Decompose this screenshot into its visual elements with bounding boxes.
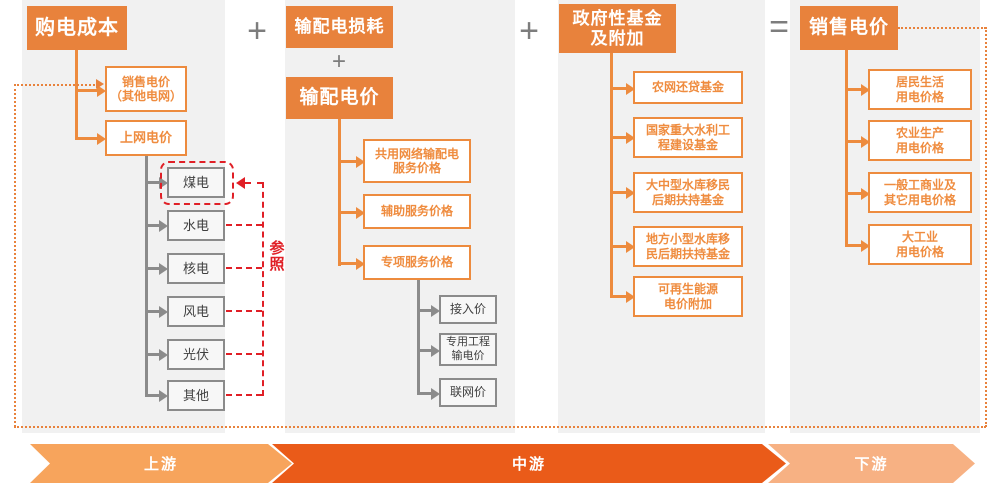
box-local-small-reservoir-resettlement-fund: 地方小型水库移 民后期扶持基金: [633, 226, 743, 267]
header-sales-price: 销售电价: [800, 6, 898, 50]
reference-stub-nuclear: [226, 267, 262, 269]
box-on-grid-price: 上网电价: [105, 120, 187, 156]
connector-transmission-spine: [338, 119, 341, 266]
feedback-loop-bottom: [14, 426, 986, 428]
connector-purchase-stem: [75, 50, 78, 140]
chevron-downstream-label: 下游: [854, 453, 888, 474]
header-transmission-loss: 输配电损耗: [286, 6, 393, 48]
reference-stub-solar: [226, 353, 262, 355]
box-renewable-energy-surcharge: 可再生能源 电价附加: [633, 276, 743, 317]
connector-purchase-branch-1: [75, 89, 99, 92]
reference-stub-coal: [245, 182, 263, 184]
box-ancillary-service-price: 辅助服务价格: [363, 194, 471, 229]
operator-equals: =: [762, 10, 796, 44]
box-hydro-power: 水电: [167, 210, 225, 241]
chevron-downstream: 下游: [768, 444, 975, 483]
box-residential-price: 居民生活 用电价格: [868, 69, 972, 110]
connector-transmission-1: [338, 160, 358, 163]
diagram-canvas: + + = 购电成本 销售电价 （其他电网） 上网电价 煤电 水电 核电 风电 …: [0, 0, 1000, 483]
box-interconnection-price: 联网价: [439, 378, 497, 407]
reference-bus-vertical: [262, 182, 264, 396]
box-general-commercial-price: 一般工商业及 其它用电价格: [868, 172, 972, 213]
feedback-loop-right: [985, 27, 987, 427]
panel-sales-price: [790, 0, 980, 433]
header-government-funds: 政府性基金 及附加: [559, 4, 676, 53]
chevron-upstream-label: 上游: [144, 453, 178, 474]
header-transmission-price: 输配电价: [286, 77, 393, 119]
box-nuclear-power: 核电: [167, 253, 225, 284]
connector-sales-spine: [845, 50, 848, 245]
reference-stub-other: [226, 394, 262, 396]
box-large-industrial-price: 大工业 用电价格: [868, 224, 972, 265]
feedback-loop-left: [14, 84, 16, 427]
header-purchase-cost: 购电成本: [27, 6, 127, 50]
box-rural-grid-loan-fund: 农网还贷基金: [633, 71, 743, 104]
connector-transmission-2: [338, 211, 358, 214]
connector-special-spine: [417, 280, 420, 393]
chevron-midstream-label: 中游: [512, 453, 546, 474]
feedback-loop-arrowhead: [96, 79, 104, 89]
reference-stub-hydro: [226, 224, 262, 226]
reference-stub-wind: [226, 310, 262, 312]
panel-government-funds: [558, 0, 765, 433]
box-access-price: 接入价: [439, 295, 497, 324]
box-dedicated-project-transmission-price: 专用工程 输电价: [439, 333, 497, 366]
operator-plus-1: +: [240, 14, 274, 48]
box-large-reservoir-resettlement-fund: 大中型水库移民 后期扶持基金: [633, 172, 743, 213]
box-solar-pv: 光伏: [167, 339, 225, 370]
box-special-service-price: 专项服务价格: [363, 245, 471, 280]
connector-transmission-3: [338, 262, 358, 265]
box-agricultural-price: 农业生产 用电价格: [868, 120, 972, 161]
connector-power-spine: [145, 156, 148, 394]
box-sales-price-other-grid: 销售电价 （其他电网）: [105, 66, 187, 112]
box-wind-power: 风电: [167, 296, 225, 327]
reference-label: 参照: [268, 241, 286, 273]
connector-purchase-branch-2: [75, 137, 99, 140]
box-shared-network-service-price: 共用网络输配电 服务价格: [363, 139, 471, 183]
chevron-midstream: 中游: [272, 444, 786, 483]
reference-arrowhead-coal: [236, 177, 245, 189]
chevron-upstream: 上游: [30, 444, 292, 483]
box-other-power: 其他: [167, 380, 225, 411]
feedback-loop-top-right: [898, 27, 986, 29]
highlight-coal-power: [160, 161, 234, 205]
feedback-loop-top-left: [14, 84, 99, 86]
operator-plus-2: +: [512, 14, 546, 48]
operator-plus-inner: +: [322, 50, 356, 74]
box-national-major-water-fund: 国家重大水利工 程建设基金: [633, 117, 743, 158]
